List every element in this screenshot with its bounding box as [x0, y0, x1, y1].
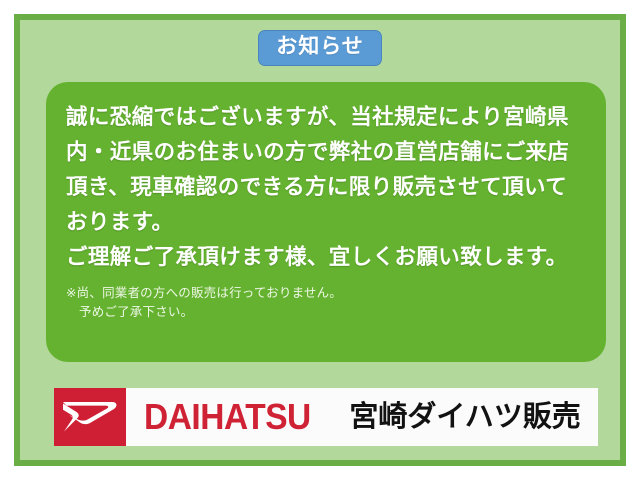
notice-footnote-line: 予めご了承下さい。 [66, 303, 586, 322]
notice-line: 内・近県のお住まいの方で弊社の直営店舗にご来店 [66, 135, 586, 170]
notice-line: おります。 [66, 205, 586, 240]
daihatsu-wordmark: DAIHATSU [144, 399, 311, 435]
notice-card: 誠に恐縮ではございますが、当社規定により宮崎県 内・近県のお住まいの方で弊社の直… [46, 82, 606, 362]
notice-footnote-block: ※尚、同業者の方への販売は行っておりません。 予めご了承下さい。 [66, 284, 586, 322]
notice-footnote-line: ※尚、同業者の方への販売は行っておりません。 [66, 284, 586, 303]
notice-line: ご理解ご了承頂けます様、宜しくお願い致します。 [66, 240, 586, 275]
notice-text-block: 誠に恐縮ではございますが、当社規定により宮崎県 内・近県のお住まいの方で弊社の直… [66, 100, 586, 275]
daihatsu-d-emblem-icon [54, 388, 126, 446]
notice-panel: お知らせ 誠に恐縮ではございますが、当社規定により宮崎県 内・近県のお住まいの方… [14, 14, 626, 466]
notice-line: 頂き、現車確認のできる方に限り販売させて頂いて [66, 170, 586, 205]
notice-badge: お知らせ [258, 30, 382, 66]
dealer-name: 宮崎ダイハツ販売 [349, 403, 580, 432]
notice-line: 誠に恐縮ではございますが、当社規定により宮崎県 [66, 100, 586, 135]
dealer-logo-bar: DAIHATSU 宮崎ダイハツ販売 [54, 388, 598, 446]
badge-row: お知らせ [20, 30, 620, 66]
